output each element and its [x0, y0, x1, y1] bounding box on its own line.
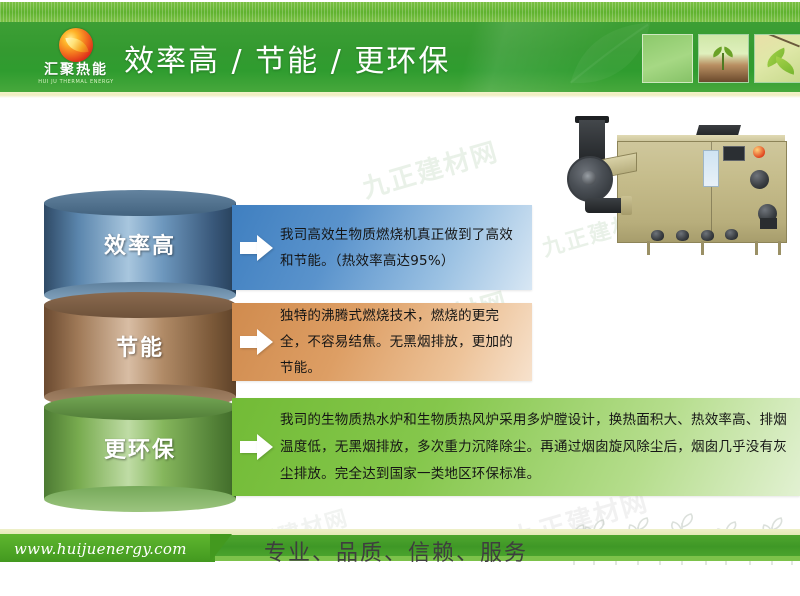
cylinder-top	[44, 292, 236, 318]
header-thumbnail-group	[554, 30, 794, 86]
cylinder-label: 节能	[44, 330, 236, 362]
page-title: 效率高 / 节能 / 更环保	[124, 36, 450, 80]
website-url[interactable]: www.huijuenergy.com	[14, 540, 187, 558]
leaves-photo-thumb[interactable]	[754, 34, 800, 83]
arrow-right-icon	[240, 434, 274, 460]
description-panel-3: 我司的生物质热水炉和生物质热风炉采用多炉膛设计，换热面积大、热效率高、排烟温度低…	[232, 398, 800, 496]
cylinder-block-1: 效率高	[44, 190, 236, 308]
cylinder-top	[44, 190, 236, 216]
biomass-boiler-photo	[555, 112, 800, 287]
footer-slogan: 专业、品质、信赖、服务	[264, 535, 528, 567]
description-panel-1: 我司高效生物质燃烧机真正做到了高效和节能。（热效率高达95%）	[232, 205, 532, 290]
cylinder-label: 更环保	[44, 432, 236, 464]
logo-name-cn: 汇聚热能	[28, 63, 124, 78]
description-panel-2: 独特的沸腾式燃烧技术，燃烧的更完全，不容易结焦。无黑烟排放，更加的节能。	[232, 303, 532, 381]
watermark-badge-icon	[600, 569, 614, 583]
slide-page: 九正建材网 九正建材网 九正建材网 九正建材网 九正建材网 汇聚热能 HUI J…	[0, 0, 800, 596]
description-text: 我司的生物质热水炉和生物质热风炉采用多炉膛设计，换热面积大、热效率高、排烟温度低…	[280, 407, 800, 488]
company-logo[interactable]: 汇聚热能 HUI JU THERMAL ENERGY	[28, 27, 124, 89]
logo-flame-icon	[59, 28, 93, 62]
top-decorative-strip	[0, 0, 800, 22]
logo-name-en: HUI JU THERMAL ENERGY	[28, 78, 124, 86]
description-text: 独特的沸腾式燃烧技术，燃烧的更完全，不容易结焦。无黑烟排放，更加的节能。	[280, 303, 532, 381]
sprout-photo-thumb[interactable]	[698, 34, 749, 83]
description-text: 我司高效生物质燃烧机真正做到了高效和节能。（热效率高达95%）	[280, 222, 532, 274]
header-underline	[0, 92, 800, 98]
cylinder-label: 效率高	[44, 228, 236, 260]
arrow-right-icon	[240, 329, 274, 355]
arrow-right-icon	[240, 235, 274, 261]
page-watermark: 九正建材网	[358, 131, 503, 205]
header-band: 汇聚热能 HUI JU THERMAL ENERGY 效率高 / 节能 / 更环…	[0, 22, 800, 92]
footer-watermark: 九正建材网中国建材第一网 www.guojiyumi.com	[614, 570, 800, 583]
cylinder-block-3: 更环保	[44, 394, 236, 512]
blank-green-thumb[interactable]	[642, 34, 693, 83]
cylinder-top	[44, 394, 236, 420]
footer-tab-slant	[210, 534, 232, 562]
cylinder-block-2: 节能	[44, 292, 236, 410]
cylinder-bottom	[44, 486, 236, 512]
